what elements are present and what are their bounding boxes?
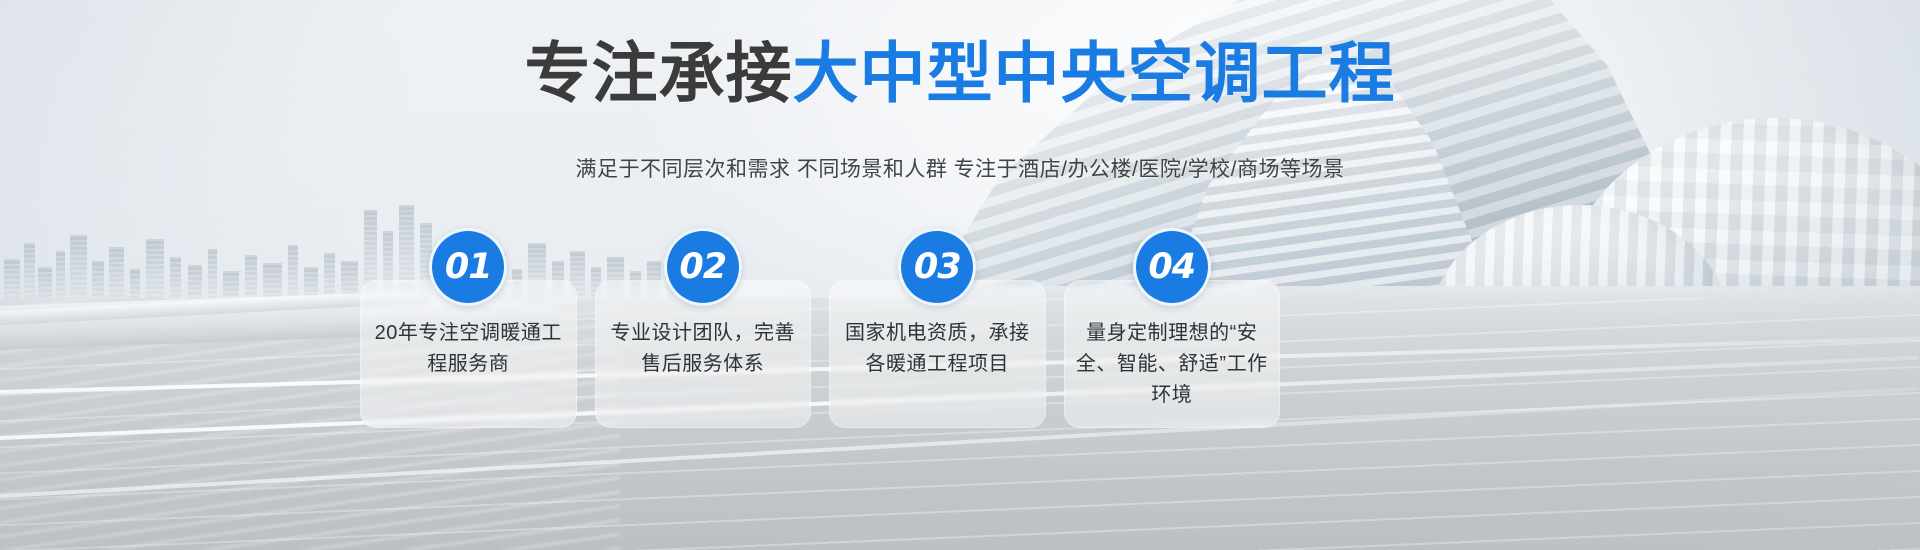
feature-card-04[interactable]: 04 量身定制理想的“安全、智能、舒适”工作环境 (1064, 280, 1281, 428)
hero-banner: 专注承接大中型中央空调工程 满足于不同层次和需求 不同场景和人群 专注于酒店/办… (0, 0, 1920, 550)
number-badge-icon-01: 01 (429, 228, 507, 306)
number-badge-icon-02: 02 (664, 228, 742, 306)
feature-card-03[interactable]: 03 国家机电资质，承接各暖通工程项目 (829, 280, 1046, 428)
badge-number-01: 01 (445, 250, 492, 285)
number-badge-icon-03: 03 (898, 228, 976, 306)
feature-card-01[interactable]: 01 20年专注空调暖通工程服务商 (360, 280, 577, 428)
headline-blue-text: 大中型中央空调工程 (793, 36, 1396, 110)
feature-card-02[interactable]: 02 专业设计团队，完善售后服务体系 (595, 280, 812, 428)
page-subtitle: 满足于不同层次和需求 不同场景和人群 专注于酒店/办公楼/医院/学校/商场等场景 (0, 156, 1920, 183)
feature-card-text-03: 国家机电资质，承接各暖通工程项目 (837, 318, 1038, 380)
badge-number-03: 03 (914, 250, 961, 285)
feature-card-text-02: 专业设计团队，完善售后服务体系 (603, 318, 804, 380)
headline-dark-text: 专注承接 (525, 36, 793, 110)
badge-number-04: 04 (1148, 250, 1195, 285)
feature-card-text-04: 量身定制理想的“安全、智能、舒适”工作环境 (1072, 318, 1273, 411)
badge-number-02: 02 (679, 250, 726, 285)
feature-card-list: 01 20年专注空调暖通工程服务商 02 专业设计团队，完善售后服务体系 03 … (360, 280, 1280, 428)
number-badge-icon-04: 04 (1133, 228, 1211, 306)
feature-card-text-01: 20年专注空调暖通工程服务商 (368, 318, 569, 380)
page-title: 专注承接大中型中央空调工程 (0, 40, 1920, 106)
